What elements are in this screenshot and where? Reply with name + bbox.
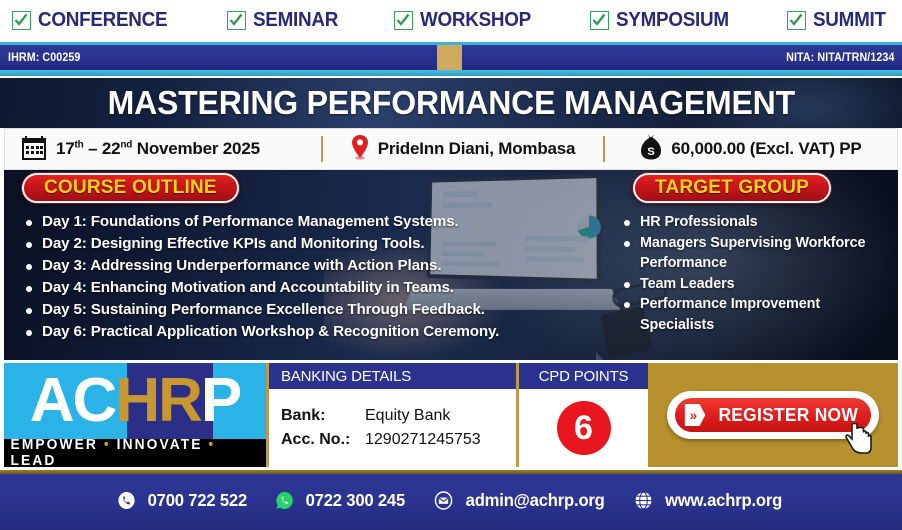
course-outline-item: Day 5: Sustaining Performance Excellence… [42, 300, 485, 320]
event-price: 60,000.00 (Excl. VAT) PP [671, 139, 861, 159]
accreditation-gold-block [437, 45, 462, 70]
logo-letter: P [201, 370, 240, 432]
target-group-item: HR Professionals [640, 212, 758, 233]
event-type-chip-conference: CONFERENCE [12, 8, 179, 32]
logo-letters: A C H R P [4, 363, 266, 439]
contact-phone[interactable]: 0700 722 522 [117, 490, 250, 511]
ihrm-accreditation-number: IHRM: C00259 [8, 52, 80, 64]
contact-whatsapp[interactable]: 0722 300 245 [275, 490, 408, 511]
bank-value: Equity Bank [365, 407, 450, 425]
bank-label: Bank: [281, 407, 365, 425]
info-strip: A C H R P EMPOWER • INNOVATE • LEAD BANK… [4, 363, 898, 467]
list-item: Performance Improvement Specialists [624, 294, 884, 335]
bullet-icon [26, 308, 32, 314]
bullet-icon [26, 286, 32, 292]
logo-letter: H [115, 370, 158, 432]
cpd-points-header: CPD POINTS [519, 363, 648, 389]
location-pin-icon [351, 134, 369, 165]
contact-email[interactable]: admin@achrp.org [434, 490, 608, 511]
check-square-icon [394, 11, 413, 30]
course-outline-badge: COURSE OUTLINE [22, 173, 239, 203]
hand-pointer-icon [844, 423, 874, 459]
globe-icon [635, 491, 653, 510]
list-item: Day 1: Foundations of Performance Manage… [26, 212, 596, 232]
accreditation-bar: IHRM: C00259 NITA: NITA/TRN/1234 [0, 42, 902, 78]
contact-website-text: www.achrp.org [665, 490, 782, 511]
title-band: MASTERING PERFORMANCE MANAGEMENT [0, 78, 902, 128]
logo-tagline: EMPOWER • INNOVATE • LEAD [4, 439, 266, 467]
logo-letter: C [73, 370, 116, 432]
event-type-chip-symposium: SYMPOSIUM [590, 8, 739, 32]
event-poster: CONFERENCE SEMINAR WORKSHOP SYMPOSIUM SU… [0, 0, 902, 530]
register-panel: » REGISTER NOW [648, 363, 898, 467]
content-panel: COURSE OUTLINE Day 1: Foundations of Per… [4, 170, 898, 360]
svg-text:S: S [648, 146, 655, 158]
check-square-icon [227, 11, 246, 30]
list-item: Team Leaders [624, 274, 884, 295]
event-meta-row: 17th – 22nd November 2025 PrideInn Diani… [4, 128, 898, 170]
double-chevron-right-icon: » [685, 404, 706, 426]
event-type-chip-summit: SUMMIT [787, 8, 892, 32]
event-venue: PrideInn Diani, Mombasa [378, 139, 576, 159]
table-row: Acc. No.: 1290271245753 [281, 431, 504, 449]
event-price-cell: S 60,000.00 (Excl. VAT) PP [605, 129, 897, 169]
list-item: Day 6: Practical Application Workshop & … [26, 322, 596, 342]
check-square-icon [590, 11, 609, 30]
accreditation-bottom-rule [0, 70, 902, 76]
bullet-icon [624, 282, 630, 288]
email-icon [434, 491, 452, 510]
course-outline-item: Day 3: Addressing Underperformance with … [42, 256, 441, 276]
list-item: HR Professionals [624, 212, 884, 233]
table-row: Bank: Equity Bank [281, 407, 504, 425]
target-group-badge-label: TARGET GROUP [655, 177, 809, 199]
logo-letter: R [158, 370, 201, 432]
course-outline-list: Day 1: Foundations of Performance Manage… [26, 212, 596, 344]
event-type-label: SUMMIT [813, 8, 886, 32]
bullet-icon [624, 302, 630, 308]
event-type-strip: CONFERENCE SEMINAR WORKSHOP SYMPOSIUM SU… [0, 0, 902, 40]
cpd-points-body: 6 [519, 389, 648, 467]
bullet-icon [624, 220, 630, 226]
logo-tagline-text: EMPOWER • INNOVATE • LEAD [11, 437, 260, 469]
nita-accreditation-number: NITA: NITA/TRN/1234 [786, 52, 894, 64]
cpd-points-badge: 6 [557, 401, 611, 455]
whatsapp-icon [276, 491, 294, 510]
contact-email-text: admin@achrp.org [466, 490, 605, 511]
course-outline-item: Day 2: Designing Effective KPIs and Moni… [42, 234, 424, 254]
event-type-label: SEMINAR [253, 8, 338, 32]
event-type-label: SYMPOSIUM [616, 8, 729, 32]
list-item: Day 4: Enhancing Motivation and Accounta… [26, 278, 596, 298]
account-number-value: 1290271245753 [365, 431, 481, 449]
contact-whatsapp-text: 0722 300 245 [306, 490, 405, 511]
target-group-badge: TARGET GROUP [633, 173, 831, 203]
bullet-icon [26, 264, 32, 270]
bullet-icon [26, 330, 32, 336]
contact-website[interactable]: www.achrp.org [634, 490, 785, 511]
course-outline-item: Day 6: Practical Application Workshop & … [42, 322, 499, 342]
event-venue-cell: PrideInn Diani, Mombasa [323, 129, 603, 169]
list-item: Day 2: Designing Effective KPIs and Moni… [26, 234, 596, 254]
course-outline-badge-label: COURSE OUTLINE [44, 177, 217, 199]
event-type-label: CONFERENCE [38, 8, 167, 32]
cpd-points-value: 6 [574, 411, 593, 445]
achrp-logo: A C H R P EMPOWER • INNOVATE • LEAD [4, 363, 266, 467]
register-now-label: REGISTER NOW [718, 404, 858, 426]
check-square-icon [12, 11, 31, 30]
money-bag-icon: S [640, 133, 662, 166]
account-number-label: Acc. No.: [281, 431, 365, 449]
contact-phone-text: 0700 722 522 [147, 490, 246, 511]
banking-details-panel: BANKING DETAILS Bank: Equity Bank Acc. N… [266, 363, 516, 467]
contact-footer: 0700 722 522 0722 300 245 admin@achrp.or… [0, 470, 902, 530]
event-type-label: WORKSHOP [420, 8, 531, 32]
calendar-icon [21, 133, 47, 166]
target-group-item: Team Leaders [640, 274, 735, 295]
phone-icon [117, 491, 135, 510]
register-now-button-inner[interactable]: » REGISTER NOW [675, 398, 871, 432]
target-group-list: HR Professionals Managers Supervising Wo… [624, 212, 884, 335]
event-type-chip-seminar: SEMINAR [227, 8, 345, 32]
cpd-points-panel: CPD POINTS 6 [516, 363, 648, 467]
list-item: Day 5: Sustaining Performance Excellence… [26, 300, 596, 320]
bullet-icon [624, 241, 630, 247]
event-date-cell: 17th – 22nd November 2025 [5, 129, 321, 169]
list-item: Managers Supervising Workforce Performan… [624, 233, 884, 274]
target-group-item: Performance Improvement Specialists [640, 294, 884, 335]
check-square-icon [787, 11, 806, 30]
event-type-chip-workshop: WORKSHOP [394, 8, 541, 32]
bullet-icon [26, 220, 32, 226]
decorative-arrow [596, 352, 616, 360]
event-date: 17th – 22nd November 2025 [56, 139, 260, 159]
course-outline-item: Day 4: Enhancing Motivation and Accounta… [42, 278, 454, 298]
list-item: Day 3: Addressing Underperformance with … [26, 256, 596, 276]
target-group-item: Managers Supervising Workforce Performan… [640, 233, 884, 274]
banking-details-body: Bank: Equity Bank Acc. No.: 129027124575… [269, 389, 516, 467]
course-outline-item: Day 1: Foundations of Performance Manage… [42, 212, 459, 232]
banking-details-header: BANKING DETAILS [269, 363, 516, 389]
page-title: MASTERING PERFORMANCE MANAGEMENT [107, 84, 794, 122]
bullet-icon [26, 242, 32, 248]
logo-letter: A [30, 370, 73, 432]
